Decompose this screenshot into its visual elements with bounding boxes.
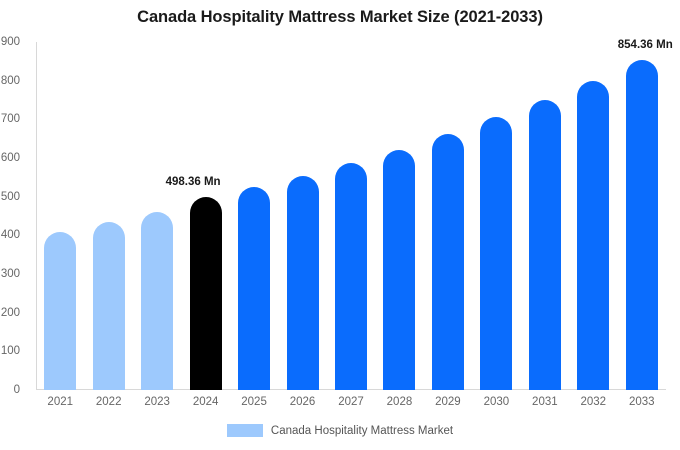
bar-group[interactable] (238, 42, 270, 390)
bar-group[interactable] (432, 42, 464, 390)
bar-value-label-2024: 498.36 Mn (166, 176, 221, 188)
chart-legend: Canada Hospitality Mattress Market (0, 424, 680, 437)
y-axis-tick-label: 800 (0, 75, 20, 87)
x-axis-tick-label: 2033 (612, 396, 672, 408)
bar-series: 498.36 Mn854.36 Mn (36, 42, 666, 390)
y-axis-tick-label: 400 (0, 229, 20, 241)
legend-label-canada-hospitality-mattress-market: Canada Hospitality Mattress Market (271, 425, 453, 437)
bar-value-label-2033: 854.36 Mn (618, 39, 673, 51)
bar-group[interactable] (480, 42, 512, 390)
bar-group[interactable] (141, 42, 173, 390)
bar-group[interactable] (529, 42, 561, 390)
legend-swatch-canada-hospitality-mattress-market (227, 424, 263, 437)
y-axis-tick-label: 500 (0, 191, 20, 203)
plot-area: 0100200300400500600700800900 498.36 Mn85… (36, 42, 666, 390)
bar-2028[interactable] (383, 150, 415, 391)
y-axis-tick-label: 0 (0, 384, 20, 396)
y-axis-tick-label: 100 (0, 345, 20, 357)
y-axis-tick-label: 900 (0, 36, 20, 48)
bar-2021[interactable] (44, 232, 76, 390)
chart-container: Canada Hospitality Mattress Market Size … (0, 0, 680, 450)
bar-2033[interactable] (626, 60, 658, 390)
bar-2025[interactable] (238, 187, 270, 390)
bar-group[interactable] (93, 42, 125, 390)
bar-2024[interactable] (190, 197, 222, 390)
y-axis-tick-label: 700 (0, 113, 20, 125)
bar-group[interactable] (335, 42, 367, 390)
bar-group[interactable] (626, 42, 658, 390)
bar-2031[interactable] (529, 100, 561, 390)
bar-2026[interactable] (287, 176, 319, 390)
y-axis-tick-label: 200 (0, 307, 20, 319)
bar-group[interactable] (44, 42, 76, 390)
bar-group[interactable] (190, 42, 222, 390)
bar-group[interactable] (577, 42, 609, 390)
chart-title: Canada Hospitality Mattress Market Size … (0, 8, 680, 27)
bar-group[interactable] (383, 42, 415, 390)
bar-2022[interactable] (93, 222, 125, 390)
bar-group[interactable] (287, 42, 319, 390)
y-axis-tick-label: 600 (0, 152, 20, 164)
y-axis-tick-label: 300 (0, 268, 20, 280)
bar-2029[interactable] (432, 134, 464, 390)
bar-2027[interactable] (335, 163, 367, 390)
bar-2023[interactable] (141, 212, 173, 390)
bar-2032[interactable] (577, 81, 609, 390)
bar-2030[interactable] (480, 117, 512, 390)
